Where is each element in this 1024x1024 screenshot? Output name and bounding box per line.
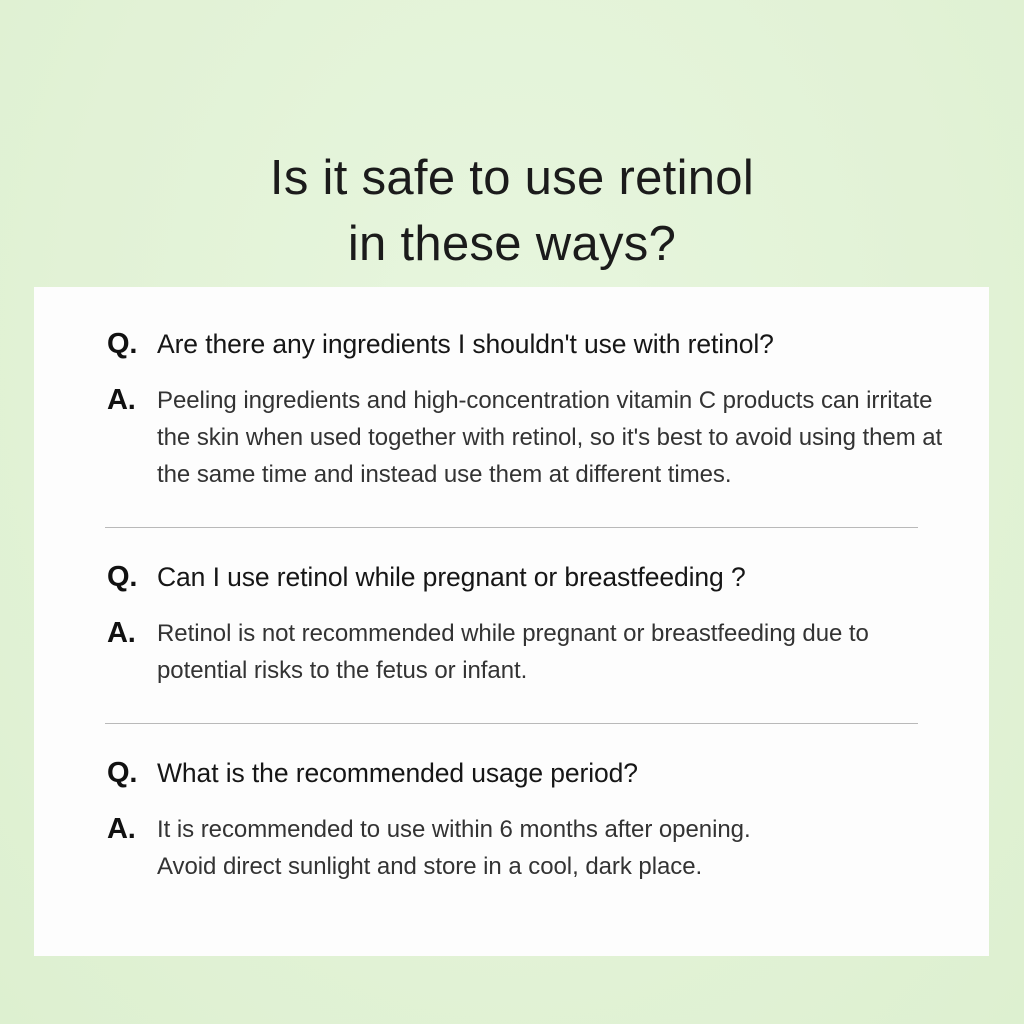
faq-answer-row: A. Peeling ingredients and high-concentr… — [157, 382, 955, 493]
faq-answer-row: A. It is recommended to use within 6 mon… — [157, 811, 955, 885]
faq-question-text: Are there any ingredients I shouldn't us… — [157, 329, 774, 359]
faq-answer-text: Peeling ingredients and high-concentrati… — [157, 382, 955, 493]
question-marker-icon: Q. — [107, 559, 151, 595]
page-root: Is it safe to use retinol in these ways?… — [0, 0, 1024, 1024]
faq-item[interactable]: Q. Are there any ingredients I shouldn't… — [34, 326, 989, 493]
answer-marker-icon: A. — [107, 382, 151, 418]
question-marker-icon: Q. — [107, 326, 151, 362]
faq-item[interactable]: Q. What is the recommended usage period?… — [34, 755, 989, 885]
faq-question-row: Q. Can I use retinol while pregnant or b… — [157, 559, 955, 595]
faq-question-row: Q. Are there any ingredients I shouldn't… — [157, 326, 955, 362]
answer-marker-icon: A. — [107, 615, 151, 651]
faq-answer-text: Retinol is not recommended while pregnan… — [157, 615, 955, 689]
question-marker-icon: Q. — [107, 755, 151, 791]
faq-question-text: What is the recommended usage period? — [157, 758, 638, 788]
faq-card: Q. Are there any ingredients I shouldn't… — [34, 287, 989, 956]
faq-divider — [105, 527, 918, 528]
faq-question-text: Can I use retinol while pregnant or brea… — [157, 562, 746, 592]
faq-divider — [105, 723, 918, 724]
faq-item[interactable]: Q. Can I use retinol while pregnant or b… — [34, 559, 989, 689]
faq-answer-row: A. Retinol is not recommended while preg… — [157, 615, 955, 689]
faq-list: Q. Are there any ingredients I shouldn't… — [34, 287, 989, 956]
faq-question-row: Q. What is the recommended usage period? — [157, 755, 955, 791]
faq-answer-text: It is recommended to use within 6 months… — [157, 811, 955, 885]
page-title: Is it safe to use retinol in these ways? — [0, 145, 1024, 277]
answer-marker-icon: A. — [107, 811, 151, 847]
